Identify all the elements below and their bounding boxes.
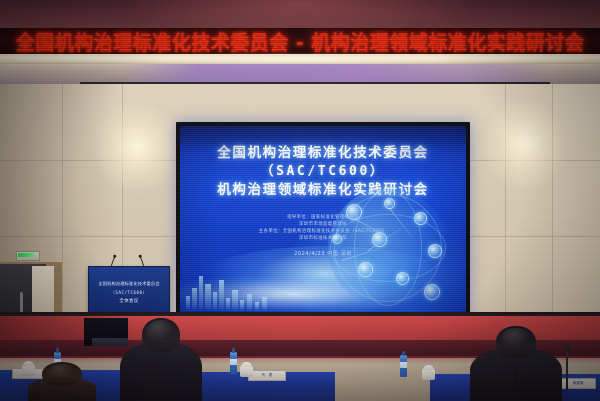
lectern-line-2: （SAC/TC600） [89, 288, 169, 297]
microphone-icon [564, 344, 570, 352]
audience-person [120, 342, 202, 401]
microphone-stand [566, 350, 568, 390]
exit-sign-light [18, 253, 34, 257]
wall-spotlight-glow [455, 92, 595, 232]
conference-hall-screenshot: 全国机构治理标准化技术委员会 - 机构治理领域标准化实践研讨会 [0, 0, 600, 401]
person-hair-highlight [48, 364, 76, 380]
tea-cup-icon [240, 365, 253, 377]
person-hair-highlight [501, 328, 531, 348]
lectern-line-3: 全体会议 [89, 297, 169, 306]
audience-person [28, 378, 96, 401]
led-main-screen: 全国机构治理标准化技术委员会 （SAC/TC600） 机构治理领域标准化实践研讨… [180, 126, 466, 314]
screen-pixel-grid [180, 126, 466, 314]
led-banner-text: 全国机构治理标准化技术委员会 - 机构治理领域标准化实践研讨会 [16, 28, 585, 54]
name-card-text: 代 表 [249, 371, 285, 378]
water-bottle-icon [400, 355, 407, 377]
lectern-line-1: 全国机构治理标准化技术委员会 [89, 279, 169, 288]
tea-cup-icon [22, 364, 35, 376]
ceiling-glow [0, 0, 600, 30]
table-name-card: 代 表 [248, 370, 286, 381]
led-banner: 全国机构治理标准化技术委员会 - 机构治理领域标准化实践研讨会 [0, 28, 600, 54]
soffit-purple-wash [120, 64, 550, 84]
bottle-label [400, 362, 407, 368]
bottle-label [230, 359, 237, 365]
exit-sign-icon [16, 251, 40, 261]
person-hair-highlight [146, 320, 176, 342]
laptop-device [92, 338, 128, 346]
water-bottle-icon [230, 352, 237, 374]
microphone-head-icon [138, 254, 142, 258]
tea-cup-icon [422, 368, 435, 380]
door-handle-icon[interactable] [20, 292, 23, 314]
lectern-sign-text: 全国机构治理标准化技术委员会 （SAC/TC600） 全体会议 [89, 279, 169, 306]
